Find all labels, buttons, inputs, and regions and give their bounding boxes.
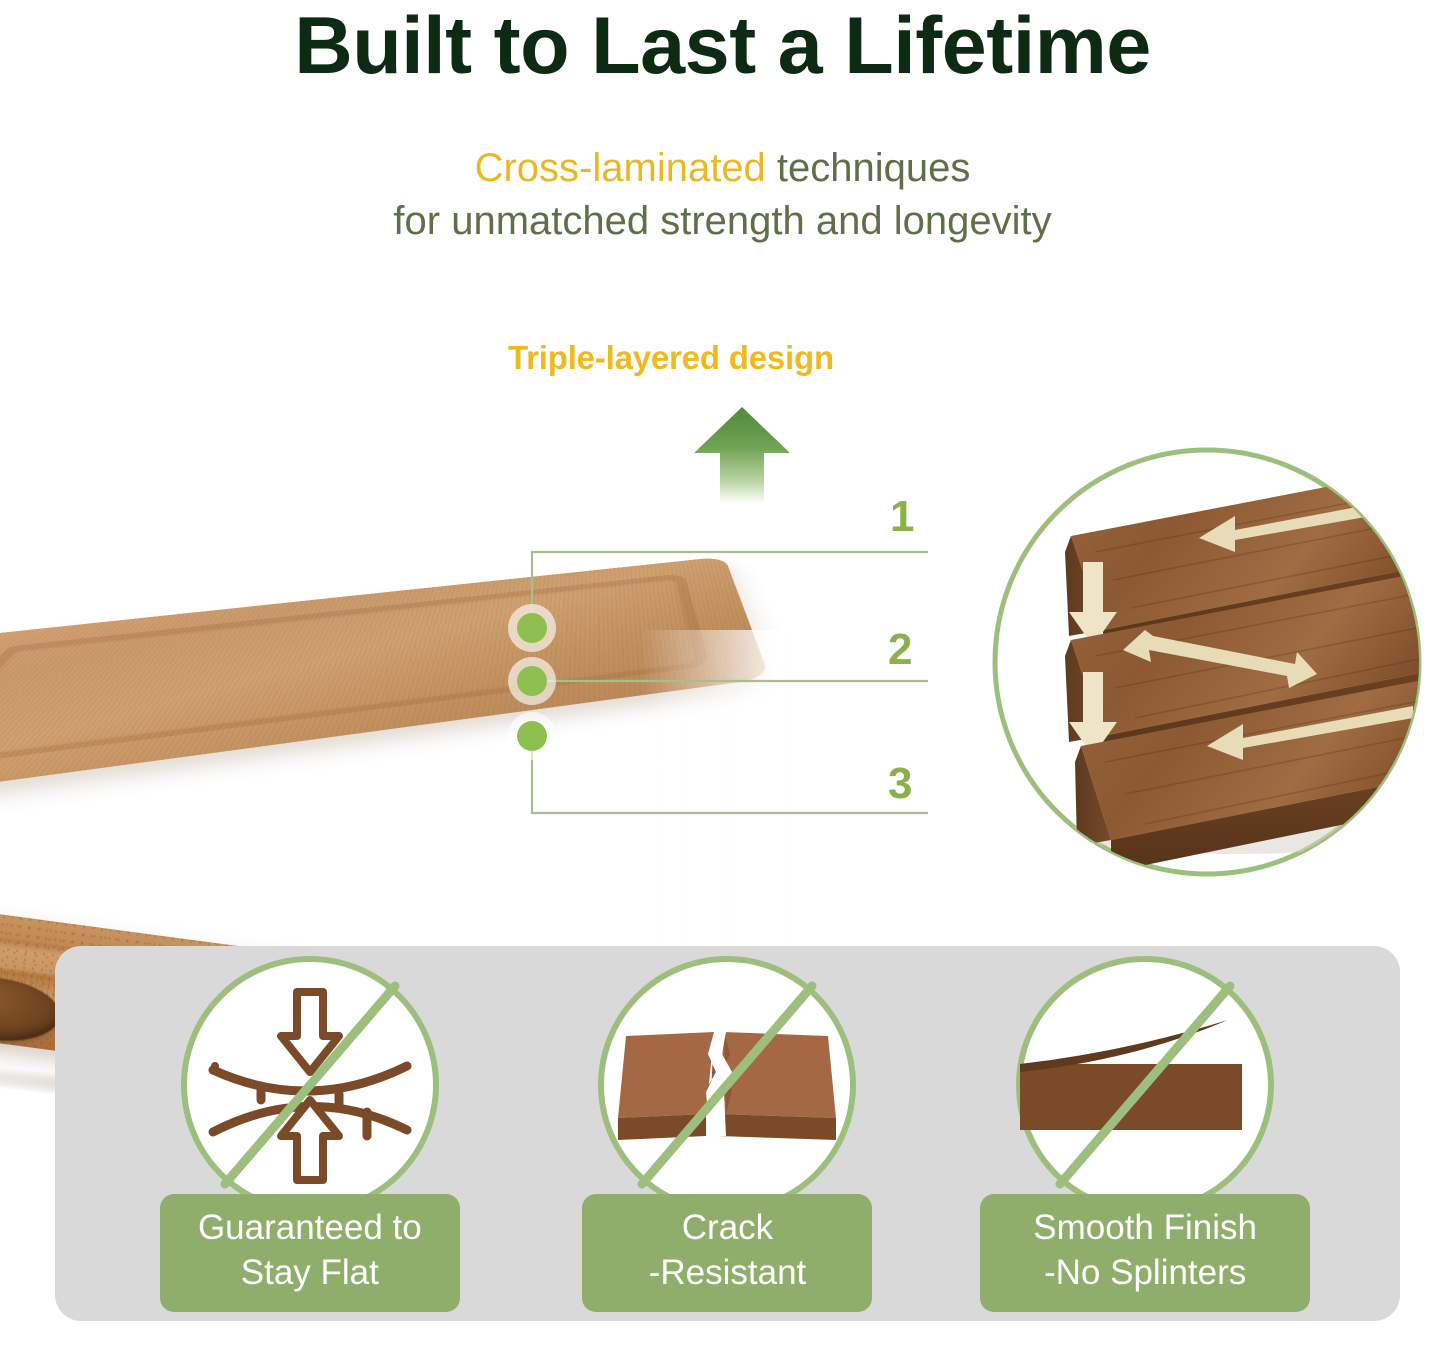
cross-laminated-layers-diagram bbox=[985, 440, 1430, 885]
callout-number-1: 1 bbox=[890, 495, 914, 539]
feature-label-crack-resistant: Crack -Resistant bbox=[582, 1194, 872, 1312]
subtitle-rest: techniques bbox=[766, 146, 971, 190]
cracked-board-left bbox=[618, 1032, 716, 1140]
page-subtitle: Cross-laminated techniques for unmatched… bbox=[0, 142, 1445, 248]
feature-label-line-1: Guaranteed to bbox=[182, 1206, 438, 1251]
feature-label-line-2: -Resistant bbox=[604, 1251, 850, 1296]
triple-layer-title: Triple-layered design bbox=[508, 339, 1008, 377]
subtitle-line-2: for unmatched strength and longevity bbox=[0, 195, 1445, 248]
subtitle-line-1: Cross-laminated techniques bbox=[0, 142, 1445, 195]
feature-label-smooth-finish: Smooth Finish -No Splinters bbox=[980, 1194, 1310, 1312]
feature-card-crack-resistant: Crack -Resistant bbox=[562, 954, 892, 1312]
feature-label-line-1: Crack bbox=[604, 1206, 850, 1251]
up-arrow-icon bbox=[690, 405, 794, 503]
feature-card-smooth-finish: Smooth Finish -No Splinters bbox=[980, 954, 1310, 1312]
no-splinters-icon bbox=[1014, 954, 1276, 1216]
subtitle-highlight: Cross-laminated bbox=[475, 146, 766, 190]
feature-label-line-2: Stay Flat bbox=[182, 1251, 438, 1296]
no-warping-icon bbox=[179, 954, 441, 1216]
feature-label-stay-flat: Guaranteed to Stay Flat bbox=[160, 1194, 460, 1312]
no-crack-icon bbox=[596, 954, 858, 1216]
feature-cards: Guaranteed to Stay Flat bbox=[55, 946, 1400, 1321]
cracked-board-right bbox=[718, 1032, 836, 1140]
callout-number-3: 3 bbox=[888, 762, 912, 806]
feature-label-line-2: -No Splinters bbox=[1002, 1251, 1288, 1296]
page-title: Built to Last a Lifetime bbox=[0, 4, 1445, 89]
infographic-page: Built to Last a Lifetime Cross-laminated… bbox=[0, 0, 1445, 1345]
callout-number-2: 2 bbox=[888, 628, 912, 672]
feature-card-stay-flat: Guaranteed to Stay Flat bbox=[145, 954, 475, 1312]
feature-label-line-1: Smooth Finish bbox=[1002, 1206, 1288, 1251]
